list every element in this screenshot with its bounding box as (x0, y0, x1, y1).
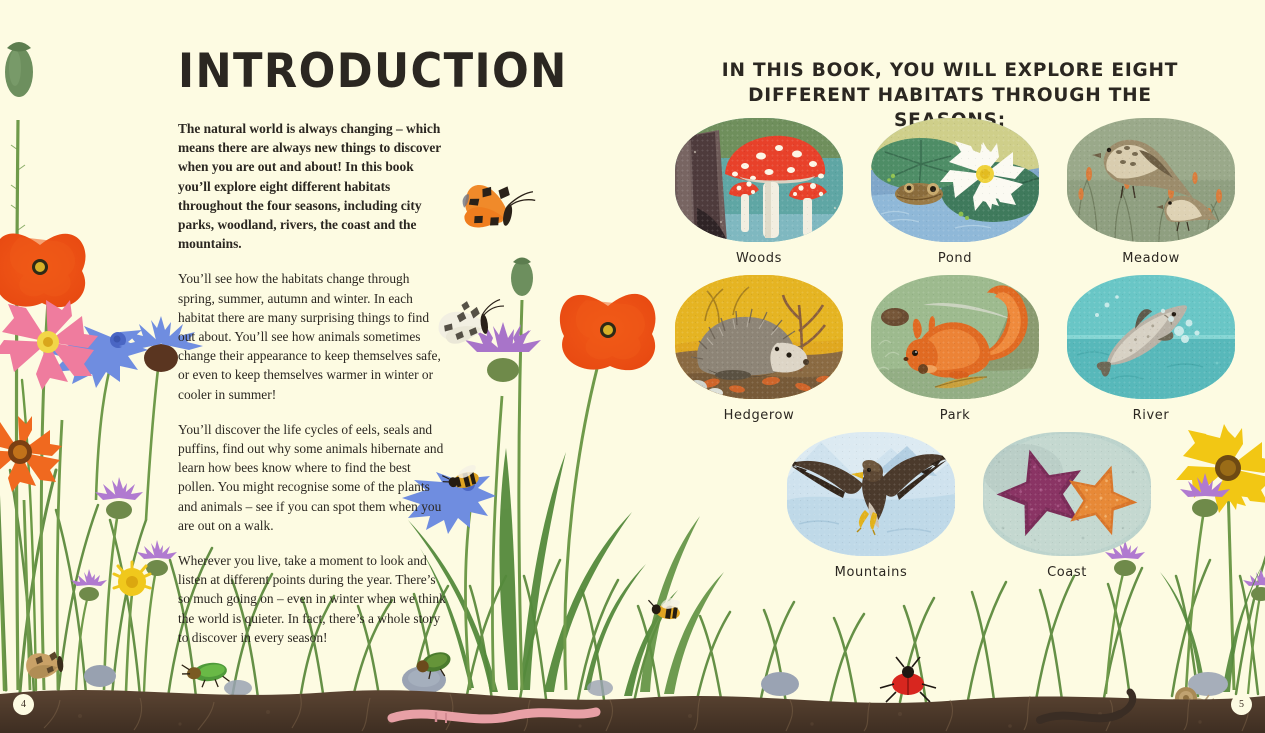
habitat-river[interactable]: River (1060, 275, 1242, 423)
poppy-seed-head (5, 42, 33, 690)
honey-bee-on-cornflower (440, 462, 481, 493)
flying-honey-bee (646, 593, 682, 621)
habitat-row-1: Woods (660, 118, 1250, 266)
meadow-label: Meadow (1060, 251, 1242, 266)
habitat-pond[interactable]: Pond (864, 118, 1046, 266)
woods-thumbnail[interactable] (675, 118, 843, 242)
habitat-park[interactable]: Park (864, 275, 1046, 423)
river-label: River (1060, 408, 1242, 423)
habitat-row-2: Hedgerow (660, 275, 1250, 423)
page-title: INTRODUCTION (178, 44, 568, 99)
habitat-grid: Woods (660, 118, 1250, 589)
habitat-hedgerow[interactable]: Hedgerow (668, 275, 850, 423)
coast-label: Coast (976, 565, 1158, 580)
snail (1168, 687, 1214, 711)
river-thumbnail[interactable] (1067, 275, 1235, 399)
habitat-row-3: Mountains (688, 432, 1250, 580)
intro-paragraph-4: Wherever you live, take a moment to look… (178, 551, 446, 647)
intro-paragraph-2: You’ll see how the habitats change throu… (178, 269, 446, 403)
centre-orange-poppy (560, 294, 656, 690)
hedgerow-label: Hedgerow (668, 408, 850, 423)
introduction-body: The natural world is always changing – w… (178, 119, 446, 663)
orange-gerbera (0, 416, 62, 690)
red-beetle (880, 657, 936, 702)
page-number-left: 4 (13, 694, 34, 715)
yellow-dandelion (114, 562, 150, 692)
coast-thumbnail[interactable] (983, 432, 1151, 556)
small-brown-butterfly (25, 651, 65, 680)
green-beetle (181, 659, 230, 692)
purple-thistle-left-2 (137, 540, 177, 692)
mountains-label: Mountains (780, 565, 962, 580)
purple-thistle-left (95, 477, 143, 690)
habitats-heading-line-1: IN THIS BOOK, YOU WILL EXPLORE EIGHT (700, 58, 1200, 83)
centre-seed-head (511, 258, 533, 691)
purple-thistle-left-3 (71, 569, 107, 692)
pond-thumbnail[interactable] (871, 118, 1039, 242)
hedgerow-thumbnail[interactable] (675, 275, 843, 399)
dark-worm (1040, 692, 1133, 720)
habitat-meadow[interactable]: Meadow (1060, 118, 1242, 266)
orange-poppy (0, 234, 86, 690)
book-spread: INTRODUCTION The natural world is always… (0, 0, 1265, 733)
page-number-right: 5 (1231, 694, 1252, 715)
stones (84, 665, 1228, 696)
mountains-thumbnail[interactable] (787, 432, 955, 556)
blue-cornflower (46, 326, 148, 500)
centre-purple-thistle (465, 322, 541, 690)
woods-label: Woods (668, 251, 850, 266)
marbled-white-butterfly (435, 296, 508, 346)
earthworm (392, 712, 596, 723)
park-label: Park (864, 408, 1046, 423)
intro-paragraph-1: The natural world is always changing – w… (178, 119, 446, 253)
park-thumbnail[interactable] (871, 275, 1039, 399)
meadow-thumbnail[interactable] (1067, 118, 1235, 242)
soil-band (0, 690, 1265, 733)
intro-paragraph-3: You’ll discover the life cycles of eels,… (178, 420, 446, 535)
tortoiseshell-butterfly (458, 178, 537, 239)
habitat-mountains[interactable]: Mountains (780, 432, 962, 580)
habitat-woods[interactable]: Woods (668, 118, 850, 266)
pink-cosmos (0, 300, 98, 690)
pond-label: Pond (864, 251, 1046, 266)
habitat-coast[interactable]: Coast (976, 432, 1158, 580)
